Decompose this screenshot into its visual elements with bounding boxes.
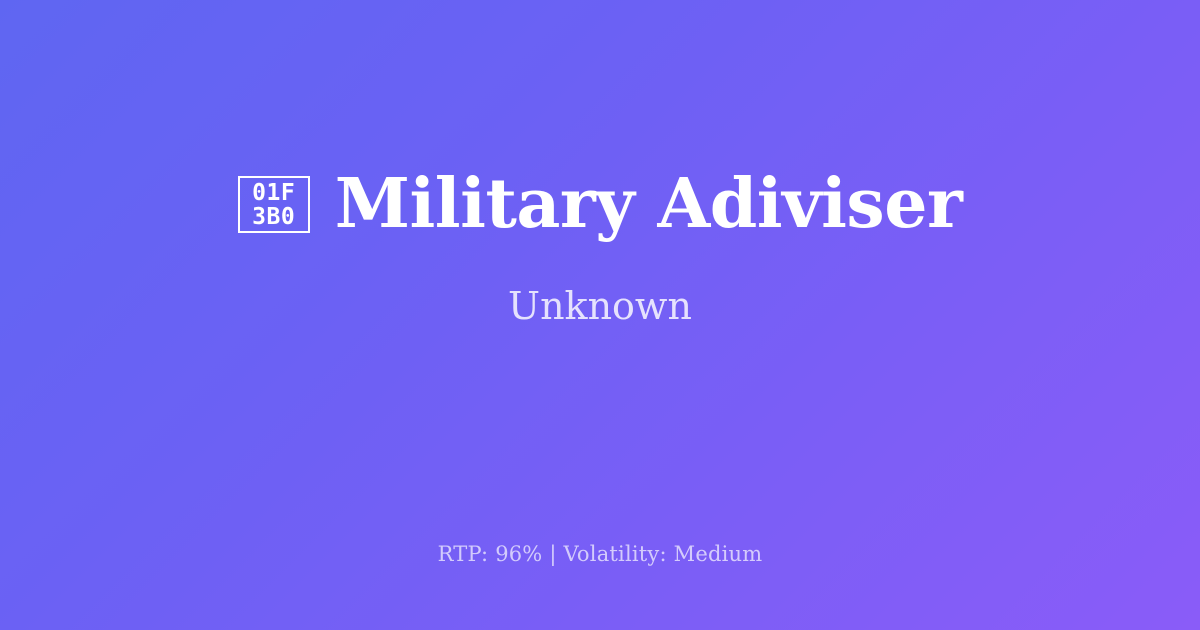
- title-row: 01F 3B0 Military Adiviser: [238, 168, 963, 240]
- page-title: Military Adiviser: [335, 168, 963, 240]
- slot-machine-icon-codepoint-bottom: 3B0: [252, 205, 295, 229]
- slot-machine-icon-codepoint-top: 01F: [252, 181, 295, 205]
- subtitle-provider: Unknown: [508, 284, 692, 330]
- hero-block: 01F 3B0 Military Adiviser Unknown: [0, 0, 1200, 497]
- footer-meta: RTP: 96% | Volatility: Medium: [0, 541, 1200, 568]
- game-stats-text: RTP: 96% | Volatility: Medium: [0, 541, 1200, 568]
- game-preview-card: 01F 3B0 Military Adiviser Unknown RTP: 9…: [0, 0, 1200, 630]
- slot-machine-icon: 01F 3B0: [238, 176, 310, 233]
